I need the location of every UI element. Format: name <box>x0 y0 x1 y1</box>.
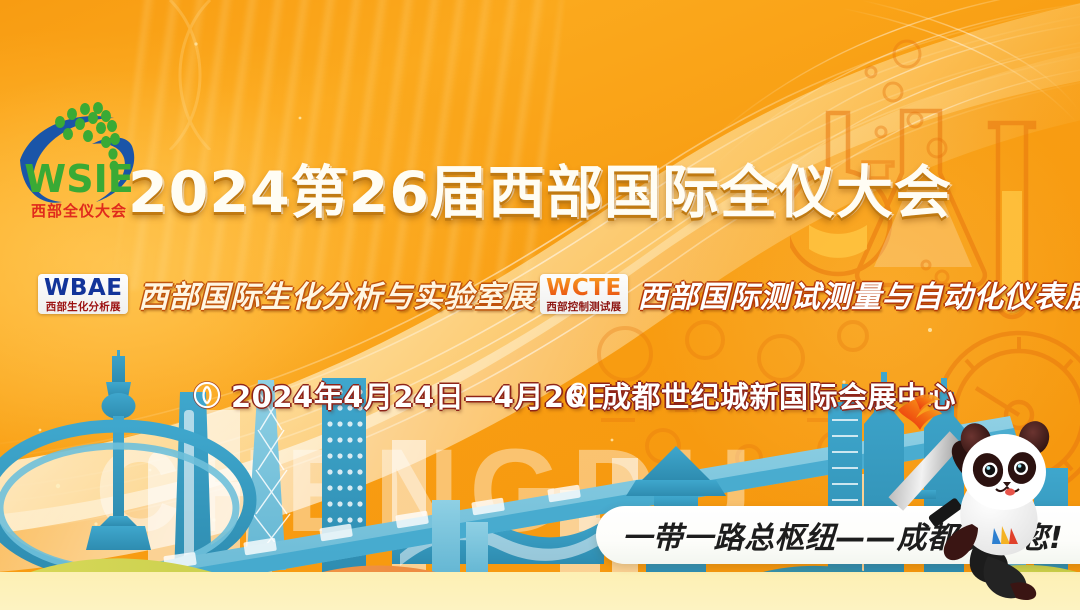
panda-with-torch-icon <box>884 392 1080 602</box>
dna-helix-icon <box>150 0 350 150</box>
exhibition-name-wbae: 西部国际生化分析与实验室展 <box>138 272 535 316</box>
event-date-row: 2024年4月24日—4月26日 <box>192 374 615 416</box>
badge-wbae[interactable]: WBAE 西部生化分析展 <box>38 274 128 315</box>
panda-tongue <box>1005 488 1015 495</box>
badge-wcte-cn: 西部控制测试展 <box>546 302 622 313</box>
torch-flame <box>898 394 942 430</box>
location-pin-icon <box>563 380 593 410</box>
clock-icon <box>192 380 222 410</box>
badge-wbae-cn: 西部生化分析展 <box>44 302 122 313</box>
page-title: 2024第26届西部国际全仪大会 <box>0 147 1080 229</box>
badge-wcte[interactable]: WCTE 西部控制测试展 <box>540 274 628 315</box>
event-date: 2024年4月24日—4月26日 <box>231 374 615 416</box>
panda-mascot <box>884 392 1080 602</box>
exhibition-row-wbae[interactable]: WBAE 西部生化分析展 西部国际生化分析与实验室展 <box>38 272 535 316</box>
exhibition-row-wcte[interactable]: WCTE 西部控制测试展 西部国际测试测量与自动化仪表展 <box>540 272 1080 316</box>
exhibition-banner: CHENGDU <box>0 0 1080 610</box>
exhibition-name-wcte: 西部国际测试测量与自动化仪表展 <box>638 272 1080 316</box>
badge-wbae-abbr: WBAE <box>44 277 122 300</box>
badge-wcte-abbr: WCTE <box>546 277 622 300</box>
torch <box>887 426 963 528</box>
